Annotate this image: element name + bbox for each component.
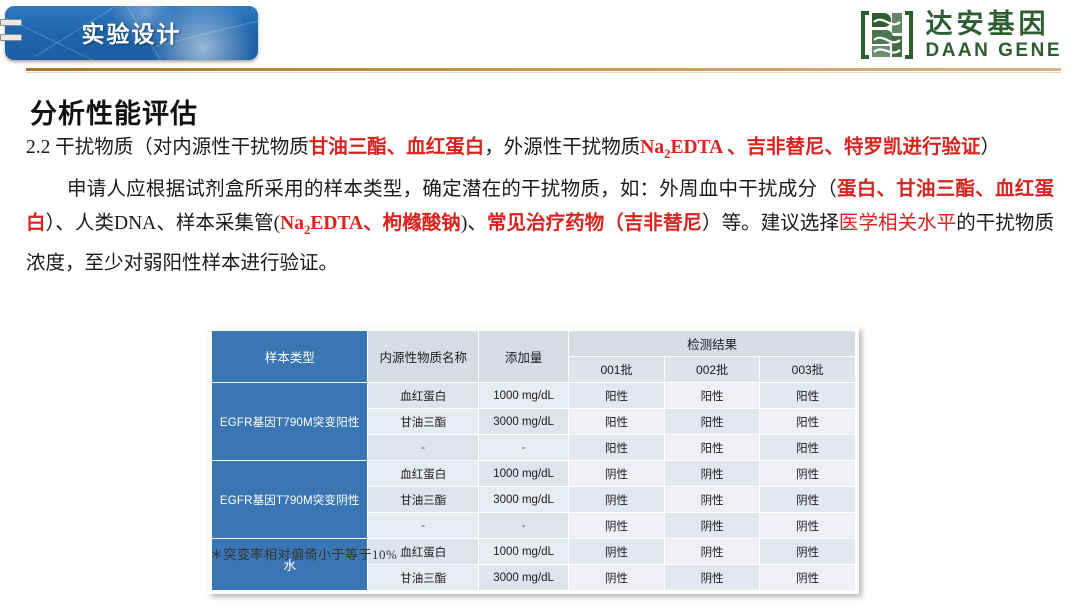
cell-result-002: 阳性	[664, 435, 760, 461]
header-rule-thin	[26, 72, 1061, 73]
cell-substance: -	[368, 513, 479, 539]
lead-seg-5: ）	[981, 137, 1001, 158]
cell-amount: 1000 mg/dL	[478, 539, 568, 565]
cell-result-002: 阳性	[664, 409, 760, 435]
cell-result-003: 阳性	[760, 409, 856, 435]
cell-result-001: 阴性	[569, 487, 665, 513]
paragraph-body: 申请人应根据试剂盒所采用的样本类型，确定潜在的干扰物质，如：外周血中干扰成分（蛋…	[26, 173, 1054, 281]
cell-result-001: 阳性	[569, 383, 665, 409]
lead-edta-label: EDTA 、吉非替尼、特罗凯进行验证	[670, 137, 980, 158]
body-seg-4-red: Na2EDTA、枸橼酸钠	[280, 213, 461, 234]
th-amount: 添加量	[478, 331, 568, 383]
daan-gene-logo-icon	[859, 10, 915, 60]
cell-result-001: 阴性	[569, 539, 665, 565]
lead-seg-4-red: Na2EDTA 、吉非替尼、特罗凯进行验证	[640, 137, 980, 158]
th-substance: 内源性物质名称	[368, 331, 479, 383]
th-batch-002: 002批	[664, 357, 760, 383]
table-footnote: ＊突变率相对偏倚小于等于10%	[210, 544, 397, 563]
th-result-group: 检测结果	[569, 331, 856, 357]
cell-amount: 3000 mg/dL	[478, 565, 568, 591]
cell-result-001: 阳性	[569, 409, 665, 435]
cell-result-001: 阴性	[569, 565, 665, 591]
th-batch-003: 003批	[760, 357, 856, 383]
body-seg-5: )、	[461, 213, 487, 234]
brand-name-en: DAAN GENE	[925, 41, 1062, 60]
cell-amount: 1000 mg/dL	[478, 461, 568, 487]
cell-result-003: 阴性	[760, 461, 856, 487]
cell-result-003: 阳性	[760, 435, 856, 461]
body-seg-6-red: 常见治疗药物（吉非替尼	[487, 213, 702, 234]
cell-amount: 3000 mg/dL	[478, 409, 568, 435]
cell-result-001: 阴性	[569, 513, 665, 539]
section-banner: 实验设计	[5, 6, 258, 60]
cell-result-003: 阴性	[760, 513, 856, 539]
brand-text: 达安基因 DAAN GENE	[925, 11, 1062, 60]
cell-result-001: 阴性	[569, 461, 665, 487]
slide-header: 实验设计	[0, 0, 1080, 76]
cell-amount: -	[478, 435, 568, 461]
slide-body-text: 2.2 干扰物质（对内源性干扰物质甘油三酯、血红蛋白，外源性干扰物质Na2EDT…	[26, 131, 1054, 281]
page-title: 分析性能评估	[30, 92, 198, 131]
brand-name-cn: 达安基因	[925, 11, 1062, 38]
cell-result-003: 阴性	[760, 539, 856, 565]
body-seg-8-red: 医学相关水平	[839, 213, 956, 234]
cell-result-003: 阴性	[760, 565, 856, 591]
body-na-label: Na	[280, 213, 304, 234]
lead-seg-1: 2.2 干扰物质（对内源性干扰物质	[26, 137, 309, 158]
brand-logo: 达安基因 DAAN GENE	[859, 7, 1062, 63]
cell-substance: 甘油三酯	[368, 487, 479, 513]
cell-result-002: 阴性	[664, 539, 760, 565]
header-rule	[26, 68, 1061, 71]
cell-substance: 血红蛋白	[368, 461, 479, 487]
table-head: 样本类型 内源性物质名称 添加量 检测结果 001批 002批 003批	[212, 331, 856, 383]
cell-result-001: 阳性	[569, 435, 665, 461]
cell-result-003: 阴性	[760, 487, 856, 513]
body-seg-3: ）、人类DNA、样本采集管(	[46, 213, 281, 234]
cell-substance: 血红蛋白	[368, 383, 479, 409]
body-seg-7: ）等。建议选择	[702, 213, 839, 234]
cell-result-003: 阳性	[760, 383, 856, 409]
table-header-row-1: 样本类型 内源性物质名称 添加量 检测结果	[212, 331, 856, 357]
cell-amount: 1000 mg/dL	[478, 383, 568, 409]
cell-result-002: 阴性	[664, 461, 760, 487]
table-row: EGFR基因T790M突变阳性 血红蛋白 1000 mg/dL 阳性 阳性 阳性	[212, 383, 856, 409]
cell-category: EGFR基因T790M突变阴性	[212, 461, 368, 539]
cell-substance: -	[368, 435, 479, 461]
cell-amount: 3000 mg/dL	[478, 487, 568, 513]
th-sample-type: 样本类型	[212, 331, 368, 383]
cell-result-002: 阴性	[664, 487, 760, 513]
cell-result-002: 阴性	[664, 513, 760, 539]
cell-result-002: 阳性	[664, 383, 760, 409]
cell-category: EGFR基因T790M突变阳性	[212, 383, 368, 461]
binder-clip-icon	[0, 18, 22, 50]
cell-amount: -	[478, 513, 568, 539]
lead-seg-3: ，外源性干扰物质	[484, 137, 640, 158]
body-seg-1: 申请人应根据试剂盒所采用的样本类型，确定潜在的干扰物质，如：外周血中干扰成分（	[67, 179, 837, 200]
lead-seg-2-red: 甘油三酯、血红蛋白	[309, 137, 485, 158]
cell-substance: 甘油三酯	[368, 409, 479, 435]
cell-substance: 甘油三酯	[368, 565, 479, 591]
paragraph-lead: 2.2 干扰物质（对内源性干扰物质甘油三酯、血红蛋白，外源性干扰物质Na2EDT…	[26, 131, 1054, 171]
cell-result-002: 阴性	[664, 565, 760, 591]
banner-title: 实验设计	[5, 15, 258, 49]
th-batch-001: 001批	[569, 357, 665, 383]
lead-na-label: Na	[640, 137, 664, 158]
table-row: EGFR基因T790M突变阴性 血红蛋白 1000 mg/dL 阴性 阴性 阴性	[212, 461, 856, 487]
body-edta-label: EDTA、枸橼酸钠	[310, 213, 461, 234]
